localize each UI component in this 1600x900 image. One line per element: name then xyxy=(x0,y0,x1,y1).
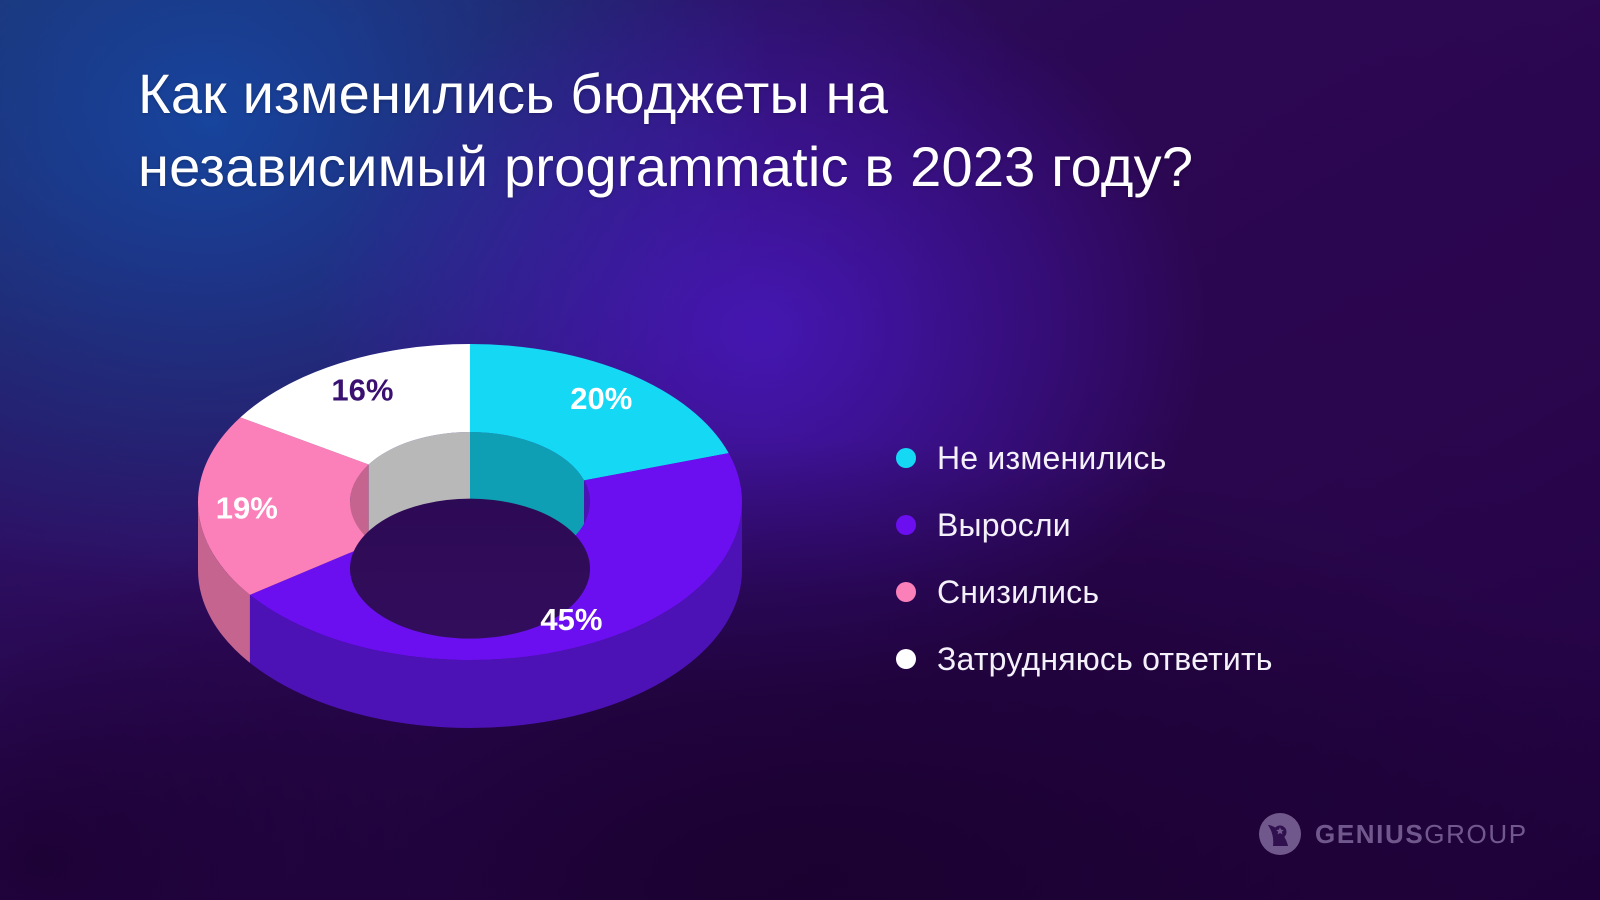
legend-item-0[interactable]: Не изменились xyxy=(896,424,1456,491)
slice-value-purple: 45% xyxy=(540,602,602,637)
logo-name-bold: GENIUS xyxy=(1315,819,1424,849)
chart-legend: Не изменились Выросли Снизились Затрудня… xyxy=(896,424,1456,692)
legend-label-2: Снизились xyxy=(937,576,1099,608)
legend-label-0: Не изменились xyxy=(937,442,1167,474)
donut-chart-svg: 20%45%19%16% xyxy=(190,312,750,752)
donut-chart: 20%45%19%16% xyxy=(190,312,750,752)
legend-dot-white-icon xyxy=(896,649,916,669)
legend-label-3: Затрудняюсь ответить xyxy=(937,643,1273,675)
legend-dot-cyan-icon xyxy=(896,448,916,468)
slice-value-pink: 19% xyxy=(216,490,278,525)
page-title: Как изменились бюджеты на независимый pr… xyxy=(138,58,1468,204)
owl-circle-icon xyxy=(1258,812,1302,856)
legend-dot-pink-icon xyxy=(896,582,916,602)
slice-value-white: 16% xyxy=(331,372,393,407)
legend-item-1[interactable]: Выросли xyxy=(896,491,1456,558)
legend-dot-purple-icon xyxy=(896,515,916,535)
brand-logo[interactable]: GENIUSGROUP xyxy=(1258,812,1528,856)
legend-item-3[interactable]: Затрудняюсь ответить xyxy=(896,625,1456,692)
logo-name-light: GROUP xyxy=(1424,819,1527,849)
logo-wordmark: GENIUSGROUP xyxy=(1315,821,1528,847)
legend-item-2[interactable]: Снизились xyxy=(896,558,1456,625)
slice-value-cyan: 20% xyxy=(570,381,632,416)
legend-label-1: Выросли xyxy=(937,509,1071,541)
